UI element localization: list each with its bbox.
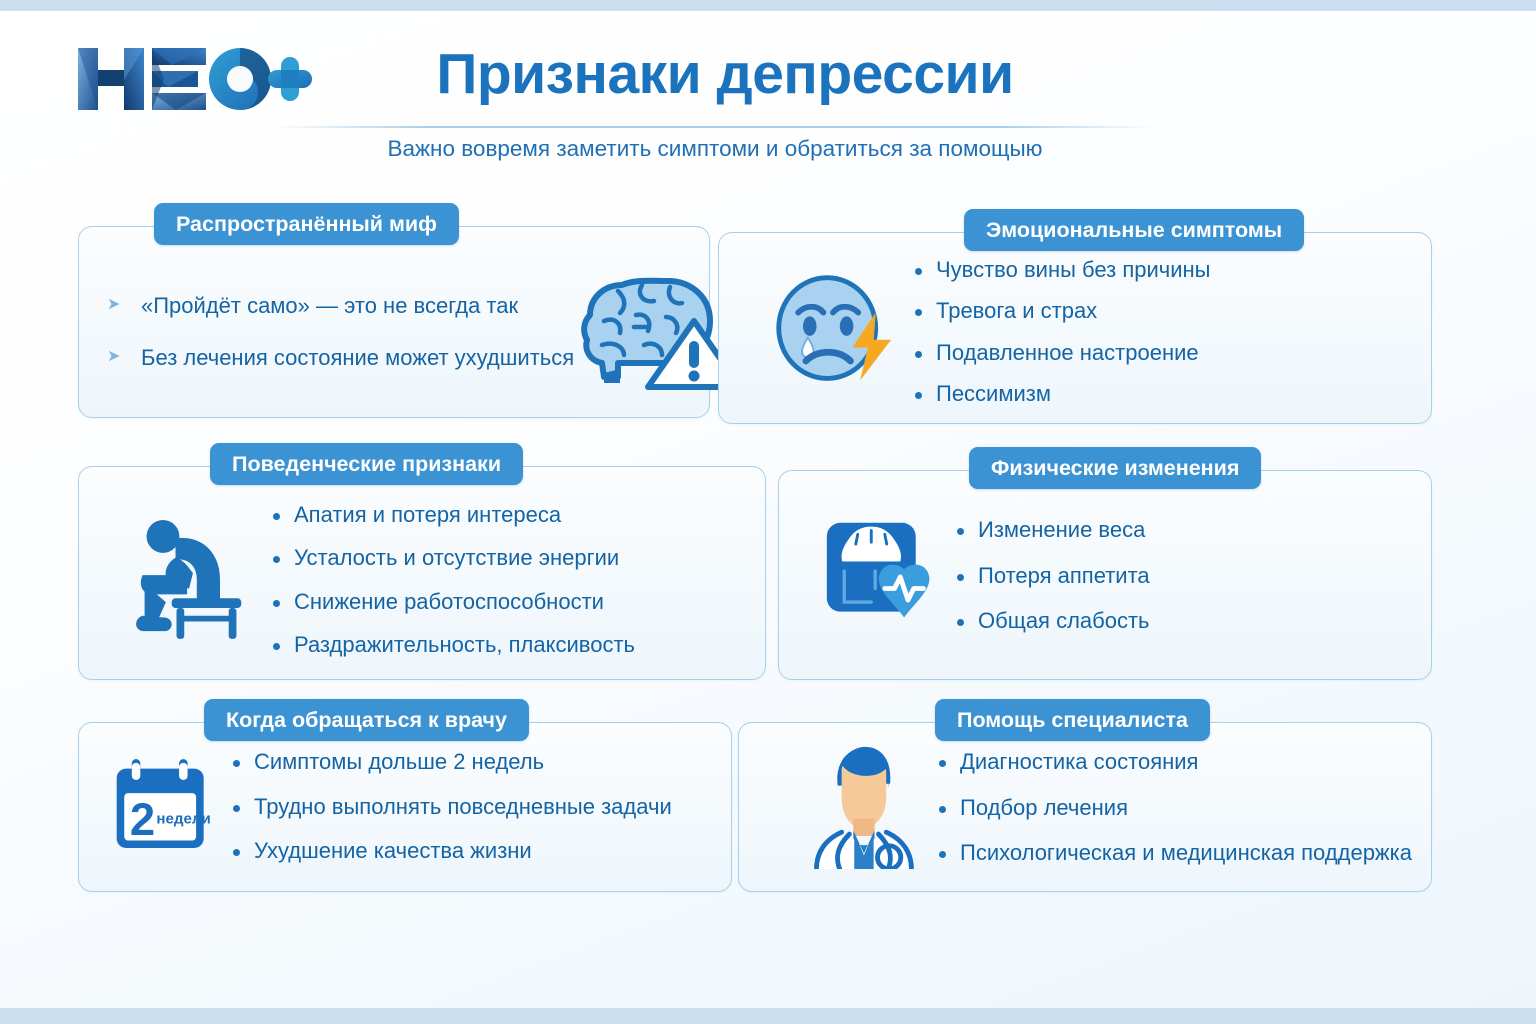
weight-scale-heart-icon bbox=[821, 517, 937, 636]
card-behavioral-body: Апатия и потеря интереса Усталость и отс… bbox=[101, 489, 751, 671]
list-item: Общая слабость bbox=[953, 608, 1421, 634]
top-band bbox=[0, 0, 1536, 11]
card-emotional-body: Чувство вины без причины Тревога и страх… bbox=[741, 251, 1421, 413]
card-when-to-see-doctor-body: 2 недели Симптомы дольше 2 недель Трудно… bbox=[97, 741, 717, 873]
card-specialist-help: Помощь специалиста bbox=[738, 722, 1432, 892]
list-item: Симптомы дольше 2 недель bbox=[229, 749, 717, 775]
list-item: Психологическая и медицинская поддержка bbox=[935, 840, 1417, 866]
page-subtitle: Важно вовремя заметить симптоми и обрати… bbox=[280, 136, 1150, 162]
list-item: Изменение веса bbox=[953, 517, 1421, 543]
sad-face-lightning-icon bbox=[771, 271, 897, 394]
card-when-to-see-doctor-title: Когда обращаться к врачу bbox=[204, 699, 529, 741]
card-myth-body: «Пройдёт само» — это не всегда так Без л… bbox=[101, 257, 701, 407]
doctor-icon bbox=[799, 743, 925, 874]
card-emotional: Эмоциональные симптомы Чувство вины без … bbox=[718, 232, 1432, 424]
card-physical-title: Физические изменения bbox=[969, 447, 1261, 489]
infographic-page: Признаки депрессии Важно вовремя заметит… bbox=[0, 0, 1536, 1024]
page-title: Признаки депрессии bbox=[380, 46, 1070, 103]
card-physical-list: Изменение веса Потеря аппетита Общая сла… bbox=[953, 517, 1421, 634]
list-item: Усталость и отсутствие энергии bbox=[269, 545, 751, 571]
list-item: Диагностика состояния bbox=[935, 749, 1417, 775]
calendar-number: 2 bbox=[130, 793, 155, 844]
list-item: Подавленное настроение bbox=[911, 340, 1421, 366]
list-item: Чувство вины без причины bbox=[911, 257, 1421, 283]
card-emotional-title: Эмоциональные симптомы bbox=[964, 209, 1304, 251]
calendar-2-weeks-icon: 2 недели bbox=[111, 755, 215, 860]
neo-plus-logo bbox=[72, 40, 312, 118]
list-item: Снижение работоспособности bbox=[269, 589, 751, 615]
card-emotional-list: Чувство вины без причины Тревога и страх… bbox=[911, 257, 1421, 408]
header: Признаки депрессии Важно вовремя заметит… bbox=[0, 18, 1536, 168]
list-item: Ухудшение качества жизни bbox=[229, 838, 717, 864]
card-physical: Физические изменения bbox=[778, 470, 1432, 680]
list-item: Без лечения состояние может ухудшиться bbox=[107, 345, 574, 371]
list-item: Тревога и страх bbox=[911, 298, 1421, 324]
card-myth-title: Распространённый миф bbox=[154, 203, 459, 245]
list-item: Трудно выполнять повседневные задачи bbox=[229, 794, 717, 820]
list-item: Потеря аппетита bbox=[953, 563, 1421, 589]
card-specialist-help-body: Диагностика состояния Подбор лечения Пси… bbox=[757, 737, 1417, 879]
title-divider bbox=[272, 126, 1156, 128]
card-specialist-help-title: Помощь специалиста bbox=[935, 699, 1210, 741]
bottom-band bbox=[0, 1008, 1536, 1024]
list-item: «Пройдёт само» — это не всегда так bbox=[107, 293, 574, 319]
list-item: Апатия и потеря интереса bbox=[269, 502, 751, 528]
card-myth: Распространённый миф «Пройдёт само» — эт… bbox=[78, 226, 710, 418]
card-behavioral-list: Апатия и потеря интереса Усталость и отс… bbox=[269, 502, 751, 659]
card-behavioral-title: Поведенческие признаки bbox=[210, 443, 523, 485]
card-specialist-help-list: Диагностика состояния Подбор лечения Пси… bbox=[935, 749, 1417, 866]
list-item: Раздражительность, плаксивость bbox=[269, 632, 751, 658]
sitting-sad-person-icon bbox=[133, 515, 249, 646]
card-when-to-see-doctor-list: Симптомы дольше 2 недель Трудно выполнят… bbox=[229, 749, 717, 864]
card-when-to-see-doctor: Когда обращаться к врачу 2 недели Симпто… bbox=[78, 722, 732, 892]
calendar-unit: недели bbox=[156, 810, 210, 827]
list-item: Пессимизм bbox=[911, 381, 1421, 407]
card-physical-body: Изменение веса Потеря аппетита Общая сла… bbox=[801, 491, 1421, 661]
card-behavioral: Поведенческие признаки bbox=[78, 466, 766, 680]
card-myth-list: «Пройдёт само» — это не всегда так Без л… bbox=[101, 293, 574, 372]
list-item: Подбор лечения bbox=[935, 795, 1417, 821]
